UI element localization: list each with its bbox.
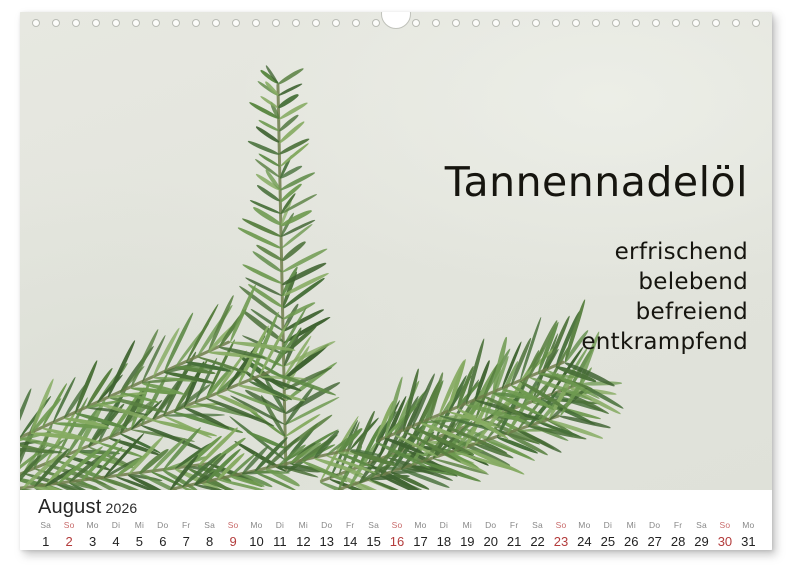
day-abbreviation: Do — [643, 521, 666, 530]
day-abbreviation: So — [385, 521, 408, 530]
day-number: 3 — [81, 535, 104, 548]
day-abbreviation: Sa — [198, 521, 221, 530]
calendar-sheet: Tannennadelöl erfrischendbelebendbefreie… — [20, 12, 772, 550]
day-cell[interactable]: Mi19 — [456, 521, 479, 548]
day-abbreviation: Do — [479, 521, 502, 530]
day-abbreviation: Sa — [34, 521, 57, 530]
day-cell[interactable]: Di18 — [432, 521, 455, 548]
days-row: Sa1So2Mo3Di4Mi5Do6Fr7Sa8So9Mo10Di11Mi12D… — [34, 521, 760, 548]
day-cell[interactable]: Mi12 — [292, 521, 315, 548]
day-cell[interactable]: Sa1 — [34, 521, 57, 548]
day-cell[interactable]: Mo3 — [81, 521, 104, 548]
day-cell[interactable]: So30 — [713, 521, 736, 548]
day-abbreviation: Sa — [690, 521, 713, 530]
day-cell[interactable]: Mo17 — [409, 521, 432, 548]
day-number: 1 — [34, 535, 57, 548]
day-abbreviation: Fr — [338, 521, 361, 530]
day-abbreviation: Mo — [81, 521, 104, 530]
day-number: 8 — [198, 535, 221, 548]
day-cell[interactable]: So23 — [549, 521, 572, 548]
day-number: 30 — [713, 535, 736, 548]
month-heading: August2026 — [38, 496, 137, 519]
day-abbreviation: Do — [315, 521, 338, 530]
day-cell[interactable]: Mo31 — [737, 521, 760, 548]
day-cell[interactable]: Fr7 — [175, 521, 198, 548]
day-abbreviation: Sa — [362, 521, 385, 530]
day-cell[interactable]: Do6 — [151, 521, 174, 548]
day-number: 2 — [57, 535, 80, 548]
day-cell[interactable]: Fr28 — [666, 521, 689, 548]
year-label: 2026 — [105, 500, 137, 516]
day-cell[interactable]: Di25 — [596, 521, 619, 548]
day-abbreviation: Mo — [409, 521, 432, 530]
day-abbreviation: Mi — [456, 521, 479, 530]
day-number: 12 — [292, 535, 315, 548]
day-number: 13 — [315, 535, 338, 548]
day-number: 7 — [175, 535, 198, 548]
day-abbreviation: Mi — [128, 521, 151, 530]
day-abbreviation: Mi — [292, 521, 315, 530]
day-number: 28 — [666, 535, 689, 548]
day-cell[interactable]: Sa8 — [198, 521, 221, 548]
day-number: 11 — [268, 535, 291, 548]
day-cell[interactable]: Di4 — [104, 521, 127, 548]
day-cell[interactable]: Di11 — [268, 521, 291, 548]
day-cell[interactable]: Mo10 — [245, 521, 268, 548]
day-cell[interactable]: So2 — [57, 521, 80, 548]
subtitle-list: erfrischendbelebendbefreiendentkrampfend — [378, 237, 748, 358]
day-number: 31 — [737, 535, 760, 548]
day-number: 26 — [620, 535, 643, 548]
day-cell[interactable]: Do20 — [479, 521, 502, 548]
day-number: 22 — [526, 535, 549, 548]
day-cell[interactable]: Mi5 — [128, 521, 151, 548]
day-cell[interactable]: Sa22 — [526, 521, 549, 548]
day-number: 24 — [573, 535, 596, 548]
day-number: 27 — [643, 535, 666, 548]
day-number: 14 — [338, 535, 361, 548]
day-cell[interactable]: Mi26 — [620, 521, 643, 548]
day-cell[interactable]: Do27 — [643, 521, 666, 548]
day-number: 15 — [362, 535, 385, 548]
day-cell[interactable]: Sa29 — [690, 521, 713, 548]
subtitle-line: belebend — [378, 267, 748, 297]
page-title: Tannennadelöl — [378, 162, 748, 203]
day-number: 9 — [221, 535, 244, 548]
day-number: 19 — [456, 535, 479, 548]
day-number: 25 — [596, 535, 619, 548]
day-number: 29 — [690, 535, 713, 548]
day-number: 17 — [409, 535, 432, 548]
day-number: 5 — [128, 535, 151, 548]
day-abbreviation: Mo — [573, 521, 596, 530]
subtitle-line: entkrampfend — [378, 327, 748, 357]
day-number: 10 — [245, 535, 268, 548]
day-cell[interactable]: Sa15 — [362, 521, 385, 548]
day-number: 16 — [385, 535, 408, 548]
day-cell[interactable]: Fr21 — [502, 521, 525, 548]
subtitle-line: befreiend — [378, 297, 748, 327]
day-abbreviation: Fr — [666, 521, 689, 530]
day-abbreviation: Di — [432, 521, 455, 530]
day-cell[interactable]: Fr14 — [338, 521, 361, 548]
day-number: 21 — [502, 535, 525, 548]
month-name: August — [38, 496, 101, 518]
day-number: 23 — [549, 535, 572, 548]
day-cell[interactable]: Do13 — [315, 521, 338, 548]
day-abbreviation: Di — [596, 521, 619, 530]
day-cell[interactable]: So16 — [385, 521, 408, 548]
day-number: 18 — [432, 535, 455, 548]
headline-block: Tannennadelöl erfrischendbelebendbefreie… — [378, 162, 748, 358]
day-number: 20 — [479, 535, 502, 548]
day-cell[interactable]: So9 — [221, 521, 244, 548]
day-abbreviation: So — [221, 521, 244, 530]
day-abbreviation: Do — [151, 521, 174, 530]
day-cell[interactable]: Mo24 — [573, 521, 596, 548]
day-abbreviation: So — [549, 521, 572, 530]
day-number: 4 — [104, 535, 127, 548]
day-abbreviation: Mo — [737, 521, 760, 530]
day-number: 6 — [151, 535, 174, 548]
day-abbreviation: Fr — [502, 521, 525, 530]
day-abbreviation: Mo — [245, 521, 268, 530]
date-strip: August2026 Sa1So2Mo3Di4Mi5Do6Fr7Sa8So9Mo… — [20, 490, 772, 550]
subtitle-line: erfrischend — [378, 237, 748, 267]
day-abbreviation: So — [57, 521, 80, 530]
day-abbreviation: Fr — [175, 521, 198, 530]
day-abbreviation: Sa — [526, 521, 549, 530]
day-abbreviation: Di — [104, 521, 127, 530]
day-abbreviation: So — [713, 521, 736, 530]
day-abbreviation: Di — [268, 521, 291, 530]
day-abbreviation: Mi — [620, 521, 643, 530]
